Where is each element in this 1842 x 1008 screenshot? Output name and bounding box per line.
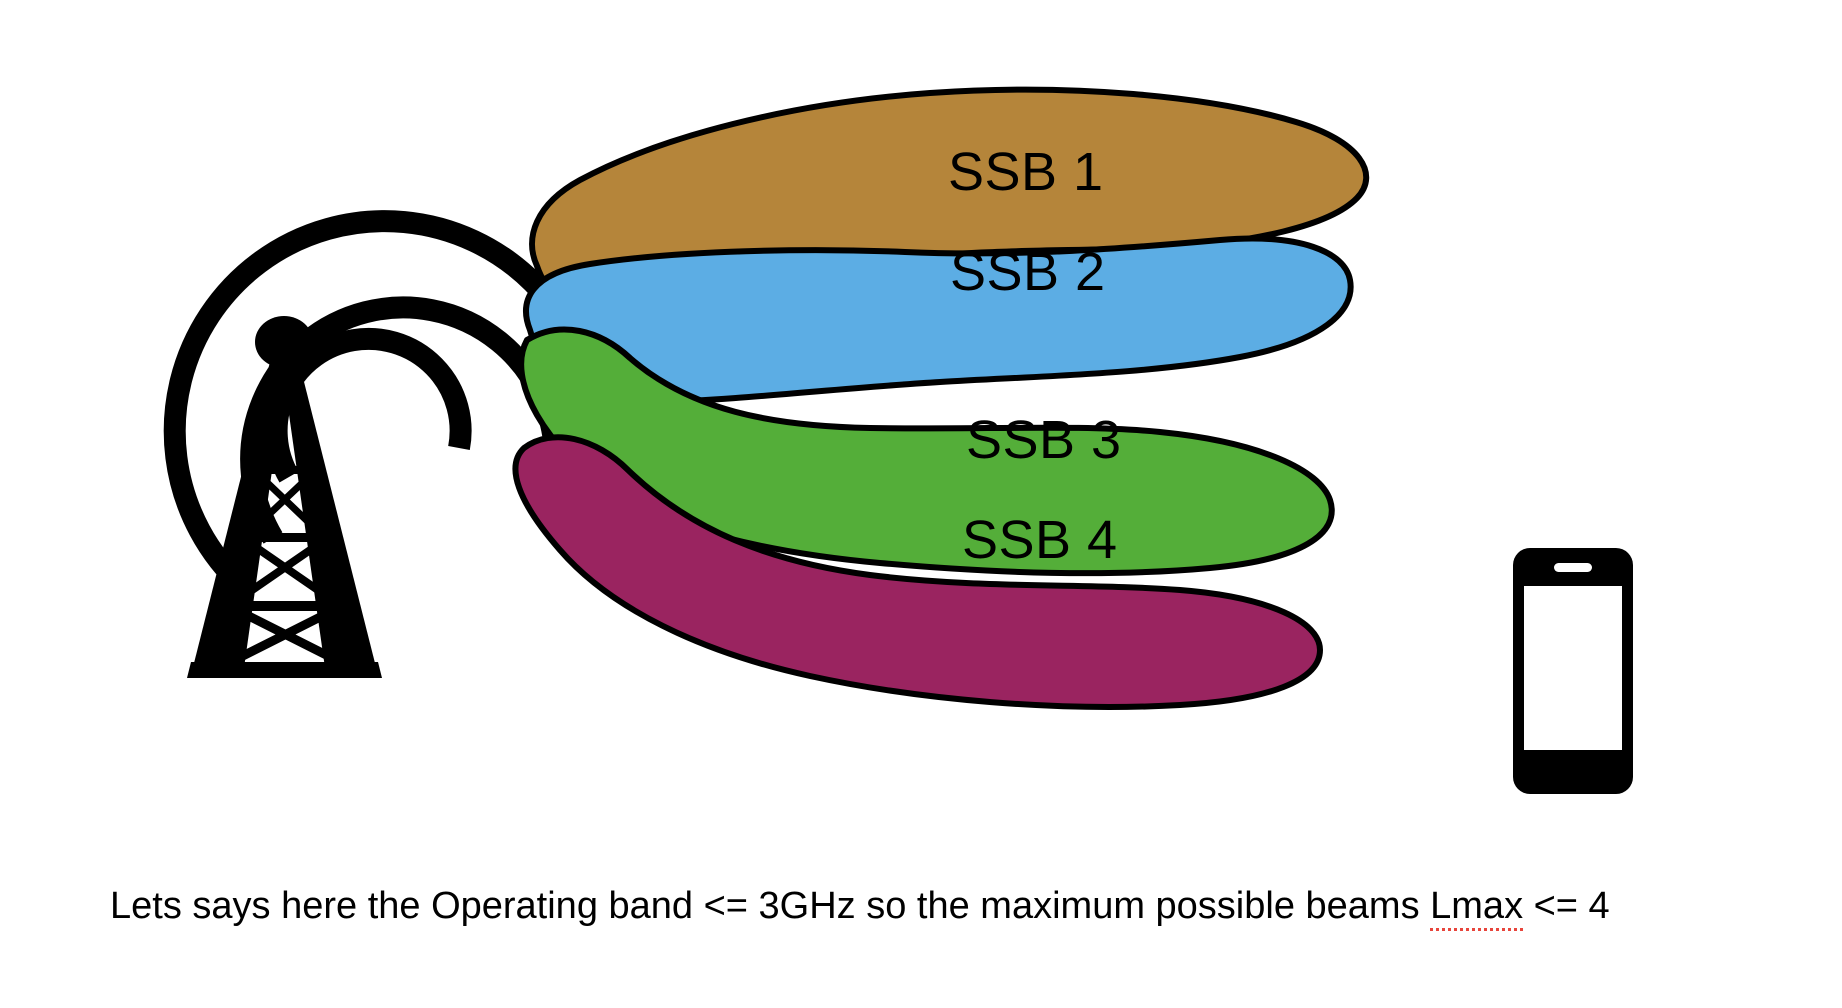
caption-suffix: <= 4 (1523, 885, 1610, 927)
beam-label-ssb-1: SSB 1 (948, 142, 1104, 202)
caption-prefix: Lets says here the Operating band <= 3GH… (110, 885, 1430, 927)
caption: Lets says here the Operating band <= 3GH… (110, 884, 1610, 930)
beam-label-ssb-2: SSB 2 (950, 242, 1106, 302)
beam-label-ssb-4: SSB 4 (962, 510, 1118, 570)
phone-screen (1524, 586, 1622, 750)
phone-speaker-slot (1554, 563, 1592, 572)
caption-misspelled-word: Lmax (1430, 885, 1523, 931)
ssb-beam-diagram: SSB 1 SSB 2 SSB 3 SSB 4 (0, 0, 1842, 1008)
smartphone-icon[interactable] (1513, 548, 1633, 794)
beam-label-ssb-3: SSB 3 (966, 410, 1122, 470)
diagram-canvas: SSB 1 SSB 2 SSB 3 SSB 4 Lets says here t… (0, 0, 1842, 1008)
tower-base (187, 662, 382, 678)
